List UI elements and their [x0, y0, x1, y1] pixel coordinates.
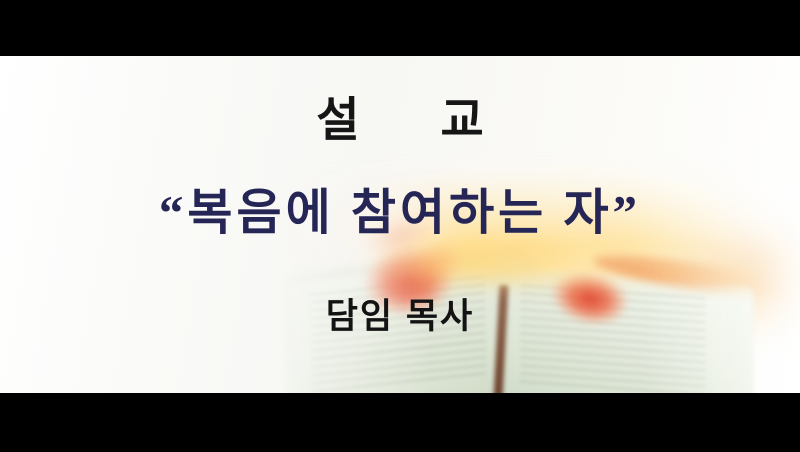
sermon-subtitle: “복음에 참여하는 자” — [0, 188, 800, 237]
letterbox-bar-top — [0, 0, 800, 56]
slide-text-block: 설 교 “복음에 참여하는 자” 담임 목사 — [0, 56, 800, 393]
video-frame: 설 교 “복음에 참여하는 자” 담임 목사 — [0, 0, 800, 452]
sermon-slide: 설 교 “복음에 참여하는 자” 담임 목사 — [0, 56, 800, 393]
speaker-role: 담임 목사 — [0, 299, 800, 334]
letterbox-bar-bottom — [0, 393, 800, 452]
sermon-title: 설 교 — [0, 96, 800, 143]
